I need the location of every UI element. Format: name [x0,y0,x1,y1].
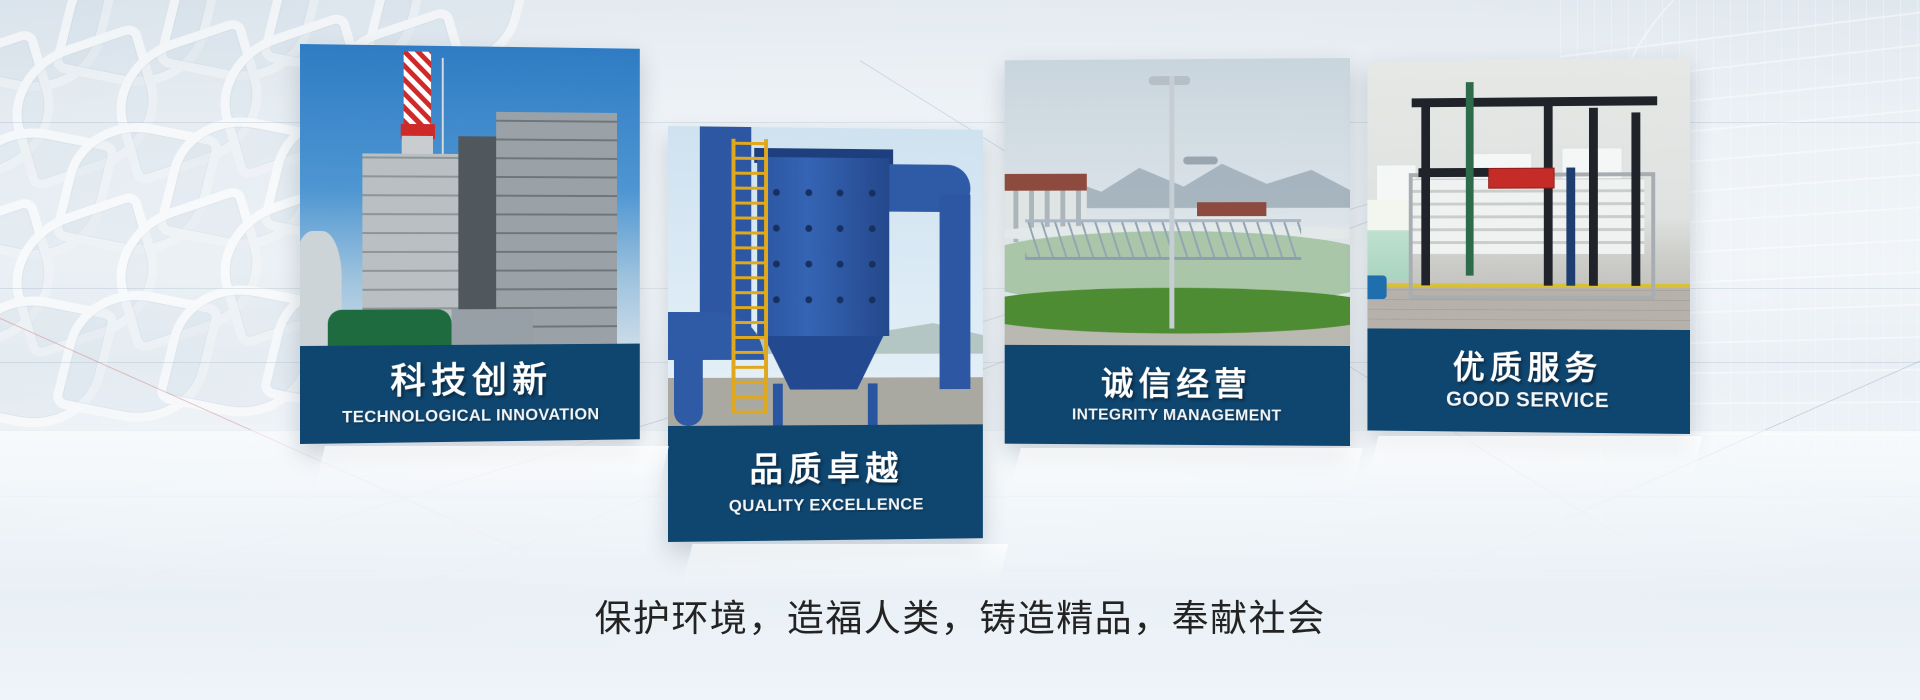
riser-pipe [1589,108,1598,287]
panel-caption: 诚信经营 INTEGRITY MANAGEMENT [1005,345,1350,446]
valve-fitting [837,297,844,304]
valve-fitting [805,297,812,304]
panel-title-en: GOOD SERVICE [1446,389,1609,411]
panel-title-cn: 品质卓越 [749,452,903,487]
far-building-roof [1197,202,1266,216]
valve-fitting [869,261,876,268]
inlet-duct-elbow [674,336,703,426]
scraper-bridge [1025,219,1301,259]
red-safety-sign [1489,167,1555,188]
panel-integrity-management[interactable]: 诚信经营 INTEGRITY MANAGEMENT [1005,58,1350,446]
valve-fitting [837,190,844,197]
valve-fitting [869,190,876,197]
panel-caption: 优质服务 GOOD SERVICE [1367,328,1690,434]
company-tagline: 保护环境，造福人类，铸造精品，奉献社会 [0,588,1920,642]
panel-reflection [311,446,669,502]
value-panel-row: 科技创新 TECHNOLOGICAL INNOVATION [0,0,1920,640]
valve-fitting [773,297,780,304]
panel-reflection [1007,448,1362,502]
second-lamp-head [1183,156,1218,164]
panel-title-en: INTEGRITY MANAGEMENT [1072,407,1281,424]
green-equipment [328,309,452,346]
valve-fitting [805,225,812,232]
panel-caption: 品质卓越 QUALITY EXCELLENCE [668,424,983,542]
wastewater-clarifier-photo [1005,58,1350,346]
valve-fitting [773,261,780,268]
green-pipe [1466,82,1474,275]
panel-good-service[interactable]: 优质服务 GOOD SERVICE [1367,58,1690,434]
support-leg [868,383,877,425]
riser-pipe [1631,113,1640,287]
valve-fitting [837,261,844,268]
industrial-stacks-photo [300,44,640,346]
panel-quality-excellence[interactable]: 品质卓越 QUALITY EXCELLENCE [668,126,983,542]
return-duct-riser [939,194,970,389]
valve-fitting [869,297,876,304]
blue-pump [1367,275,1386,299]
grass-bank [1005,288,1350,335]
blue-pipe [1566,167,1575,286]
panel-caption: 科技创新 TECHNOLOGICAL INNOVATION [300,344,640,444]
panel-title-cn: 诚信经营 [1101,366,1252,399]
valve-fitting [773,225,780,232]
baghouse-body [757,157,889,336]
valve-fitting [837,225,844,232]
valve-fitting [869,226,876,233]
panel-technological-innovation[interactable]: 科技创新 TECHNOLOGICAL INNOVATION [300,44,640,444]
lamp-post [1169,76,1174,328]
ro-water-skid-photo [1367,58,1690,330]
panel-title-en: QUALITY EXCELLENCE [729,495,924,514]
panel-title-cn: 科技创新 [390,362,552,399]
grey-equipment [452,309,533,345]
chemical-dosing-tank [1367,200,1411,280]
valve-fitting [773,189,780,196]
riser-pipe [1421,98,1430,286]
yellow-cage-ladder [732,139,768,414]
valve-fitting [805,261,812,268]
support-leg [773,384,782,426]
panel-title-cn: 优质服务 [1453,351,1603,385]
valve-fitting [805,190,812,197]
hero-banner: 科技创新 TECHNOLOGICAL INNOVATION [0,0,1920,700]
panel-title-en: TECHNOLOGICAL INNOVATION [342,406,599,426]
dust-collector-photo [668,126,983,426]
skid-frame [1409,172,1656,299]
riser-pipe [1543,103,1552,286]
panel-reflection [1366,436,1703,488]
